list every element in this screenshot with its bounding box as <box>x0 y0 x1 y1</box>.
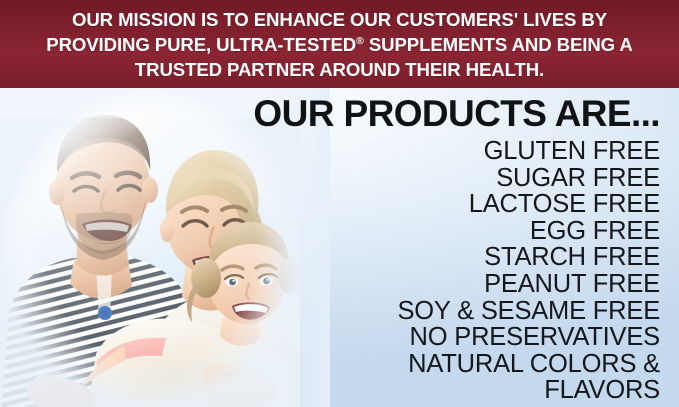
claim-item: GLUTEN FREE <box>230 138 660 165</box>
mission-line-2-part-b: SUPPLEMENTS AND BEING A <box>364 34 633 55</box>
claim-item: NO PRESERVATIVES <box>230 324 660 351</box>
mission-statement-band: OUR MISSION IS TO ENHANCE OUR CUSTOMERS'… <box>0 0 679 88</box>
mission-line-2-part-a: PROVIDING PURE, ULTRA-TESTED <box>46 34 356 55</box>
registered-trademark-icon: ® <box>356 34 364 46</box>
claim-item: NATURAL COLORS & <box>230 351 660 378</box>
product-claims-banner: OUR MISSION IS TO ENHANCE OUR CUSTOMERS'… <box>0 0 679 407</box>
claim-item: FLAVORS <box>230 377 660 404</box>
banner-stage: OUR PRODUCTS ARE... GLUTEN FREE SUGAR FR… <box>0 88 679 407</box>
mission-line-1: OUR MISSION IS TO ENHANCE OUR CUSTOMERS'… <box>72 9 607 30</box>
claim-item: SOY & SESAME FREE <box>230 298 660 325</box>
products-copy-block: OUR PRODUCTS ARE... GLUTEN FREE SUGAR FR… <box>230 88 660 404</box>
mission-line-3: TRUSTED PARTNER AROUND THEIR HEALTH. <box>135 59 544 80</box>
product-claims-list: GLUTEN FREE SUGAR FREE LACTOSE FREE EGG … <box>230 136 660 404</box>
mission-statement-text: OUR MISSION IS TO ENHANCE OUR CUSTOMERS'… <box>46 7 632 82</box>
claim-item: LACTOSE FREE <box>230 191 660 218</box>
claim-item: PEANUT FREE <box>230 271 660 298</box>
claim-item: EGG FREE <box>230 218 660 245</box>
products-heading: OUR PRODUCTS ARE... <box>230 88 660 136</box>
claim-item: STARCH FREE <box>230 244 660 271</box>
claim-item: SUGAR FREE <box>230 165 660 192</box>
